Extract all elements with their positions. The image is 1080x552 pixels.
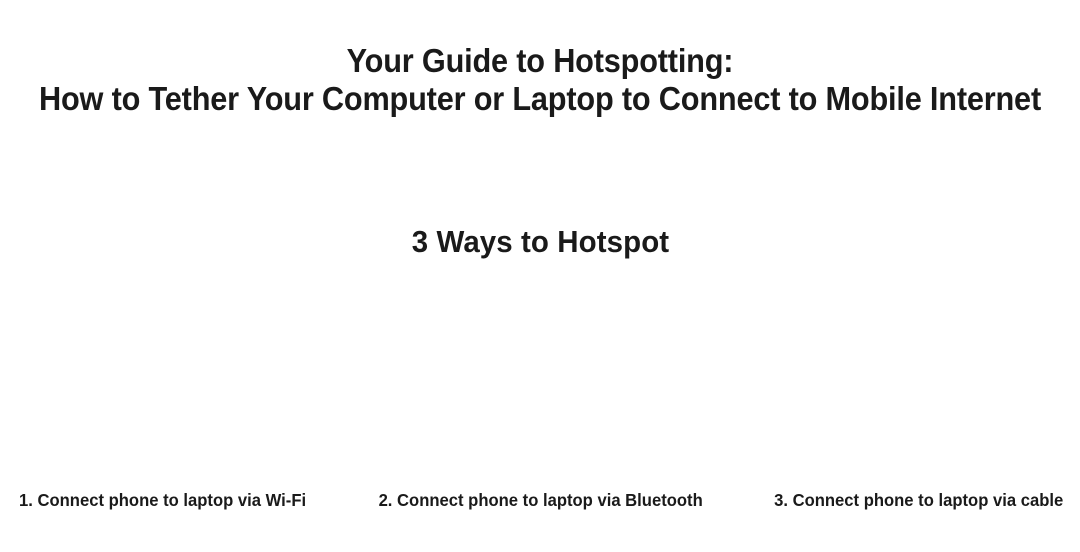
- page-title: Your Guide to Hotspotting: How to Tether…: [0, 42, 1080, 118]
- caption-bluetooth: 2. Connect phone to laptop via Bluetooth: [376, 489, 706, 511]
- caption-row: 1. Connect phone to laptop via Wi-Fi 2. …: [0, 489, 1080, 515]
- caption-cable: 3. Connect phone to laptop via cable: [733, 489, 1080, 511]
- section-heading: 3 Ways to Hotspot: [0, 222, 1080, 262]
- infographic-page: Your Guide to Hotspotting: How to Tether…: [0, 0, 1080, 552]
- section-heading-label: 3 Ways to Hotspot: [411, 222, 668, 262]
- page-title-line-1: Your Guide to Hotspotting:: [38, 42, 1042, 80]
- illustration-slot-cable: [720, 282, 1080, 477]
- illustration-row: [0, 282, 1080, 477]
- page-title-line-2: How to Tether Your Computer or Laptop to…: [38, 80, 1042, 118]
- illustration-slot-bluetooth: [360, 282, 720, 477]
- caption-wifi: 1. Connect phone to laptop via Wi-Fi: [0, 489, 349, 511]
- illustration-slot-wifi: [0, 282, 360, 477]
